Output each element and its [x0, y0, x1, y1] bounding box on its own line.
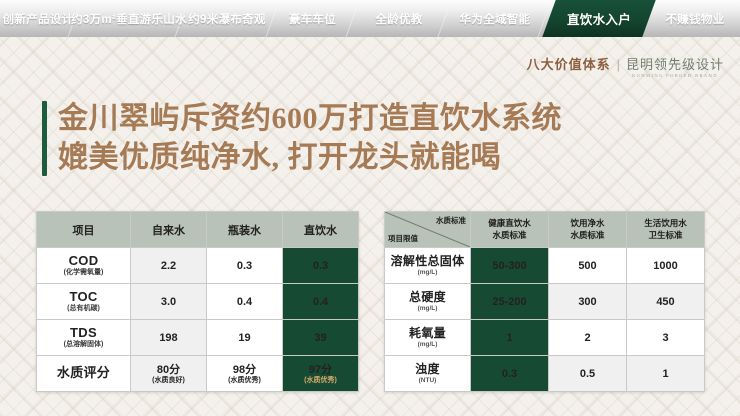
water-standards-table: 水质标准 项目限值 健康直饮水 水质标准 饮用净水 水质标准: [384, 211, 705, 392]
corner-header-bottom-left: 项目限值: [388, 233, 418, 244]
table-header-row: 项目 自来水 瓶装水 直饮水: [37, 212, 359, 248]
cell-tds-direct: 39: [283, 320, 359, 356]
column-header-healthy-direct: 健康直饮水 水质标准: [471, 212, 549, 248]
corner-header-top-right: 水质标准: [436, 215, 466, 226]
cell-oxygen-healthy: 1: [471, 320, 549, 356]
row-label-hardness: 总硬度 (mg/L): [385, 284, 471, 320]
nav-tab-waterfall[interactable]: 约9米瀑布奇观: [182, 0, 272, 37]
nav-tab-non-profit-property[interactable]: 不赚钱物业: [650, 0, 740, 37]
page-title: 金川翠屿斥资约600万打造直饮水系统 媲美优质纯净水, 打开龙头就能喝: [42, 101, 562, 176]
row-label-tds: TDS (总溶解固体): [37, 320, 131, 356]
row-label-tds-dissolved: 溶解性总固体 (mg/L): [385, 248, 471, 284]
slide-canvas: 创新产品设计 约3万m²垂直游乐山水 约9米瀑布奇观 豪车车位 全龄优教 华为全…: [0, 0, 740, 416]
nav-tab-label: 创新产品设计: [3, 11, 74, 27]
cell-toc-bottled: 0.4: [207, 284, 283, 320]
brand-divider: |: [617, 58, 620, 71]
table-row: COD (化学需氧量) 2.2 0.3 0.3: [37, 248, 359, 284]
top-navigation-bar: 创新产品设计 约3万m²垂直游乐山水 约9米瀑布奇观 豪车车位 全龄优教 华为全…: [0, 0, 740, 37]
cell-cod-tap: 2.2: [131, 248, 207, 284]
row-label-cod: COD (化学需氧量): [37, 248, 131, 284]
row-label-main: 溶解性总固体: [385, 255, 470, 269]
column-header-purified: 饮用净水 水质标准: [549, 212, 627, 248]
cell-hardness-purified: 300: [549, 284, 627, 320]
comparison-table-grid: 项目 自来水 瓶装水 直饮水 COD (化学需氧量) 2.2 0.3 0.3: [36, 211, 359, 392]
cell-score-direct: 97分 (水质优秀): [283, 356, 359, 392]
score-note: (水质优秀): [283, 377, 358, 386]
headline-line-1: 金川翠屿斥资约600万打造直饮水系统: [58, 101, 562, 138]
row-label-unit: (mg/L): [385, 305, 470, 313]
column-header-line2: 水质标准: [549, 230, 626, 241]
table-row: TDS (总溶解固体) 198 19 39: [37, 320, 359, 356]
cell-turbidity-healthy: 0.3: [471, 356, 549, 392]
table-row: 溶解性总固体 (mg/L) 50-300 500 1000: [385, 248, 705, 284]
brand-english-text: KUNMING FORGED BRAND: [632, 74, 718, 79]
row-label-oxygen: 耗氧量 (mg/L): [385, 320, 471, 356]
score-note: (水质良好): [131, 377, 206, 386]
row-label-toc: TOC (总有机碳): [37, 284, 131, 320]
nav-tab-label: 约3万m²垂直游乐山水: [71, 11, 187, 27]
cell-tds-bottled: 19: [207, 320, 283, 356]
brand-main-text: 八大价值体系: [527, 58, 611, 71]
cell-tds-tap: 198: [131, 320, 207, 356]
nav-tab-label: 直饮水入户: [567, 9, 631, 28]
row-label-unit: (NTU): [385, 377, 470, 385]
cell-tds-domestic: 1000: [627, 248, 705, 284]
nav-tab-label: 不赚钱物业: [666, 11, 725, 27]
nav-tab-direct-drinking-water[interactable]: 直饮水入户: [542, 0, 655, 37]
table-row: 总硬度 (mg/L) 25-200 300 450: [385, 284, 705, 320]
column-header-line1: 生活饮用水: [627, 218, 704, 229]
column-header-line1: 健康直饮水: [471, 218, 548, 229]
column-header-line1: 饮用净水: [549, 218, 626, 229]
brand-sub-text: 昆明领先级设计: [626, 58, 724, 71]
cell-cod-direct: 0.3: [283, 248, 359, 284]
table-row: 浊度 (NTU) 0.3 0.5 1: [385, 356, 705, 392]
headline-line-2: 媲美优质纯净水, 打开龙头就能喝: [58, 140, 562, 177]
cell-hardness-domestic: 450: [627, 284, 705, 320]
row-label-main: TDS: [37, 326, 130, 341]
standards-table-grid: 水质标准 项目限值 健康直饮水 水质标准 饮用净水 水质标准: [384, 211, 705, 392]
cell-oxygen-purified: 2: [549, 320, 627, 356]
brand-eyebrow: 八大价值体系 | 昆明领先级设计 KUNMING FORGED BRAND: [527, 58, 724, 79]
brand-sub-group: 昆明领先级设计 KUNMING FORGED BRAND: [626, 58, 724, 79]
table-row-score: 水质评分 80分 (水质良好) 98分 (水质优秀) 97分 (水质优秀): [37, 356, 359, 392]
nav-tab-label: 华为全域智能: [460, 11, 531, 27]
column-header-direct: 直饮水: [283, 212, 359, 248]
cell-tds-healthy: 50-300: [471, 248, 549, 284]
column-header-item: 项目: [37, 212, 131, 248]
score-value: 97分: [309, 364, 332, 376]
cell-score-tap: 80分 (水质良好): [131, 356, 207, 392]
corner-header-cell: 水质标准 项目限值: [385, 212, 471, 248]
row-label-main: 总硬度: [385, 291, 470, 305]
nav-tab-luxury-parking[interactable]: 豪车车位: [272, 0, 353, 37]
column-header-tap: 自来水: [131, 212, 207, 248]
cell-turbidity-purified: 0.5: [549, 356, 627, 392]
column-header-line2: 卫生标准: [627, 230, 704, 241]
row-label-note: (化学需氧量): [37, 269, 130, 277]
cell-score-bottled: 98分 (水质优秀): [207, 356, 283, 392]
score-note: (水质优秀): [207, 377, 282, 386]
cell-toc-direct: 0.4: [283, 284, 359, 320]
nav-tab-all-age-education[interactable]: 全龄优教: [353, 0, 445, 37]
nav-tab-label: 豪车车位: [289, 11, 336, 27]
row-label-unit: (mg/L): [385, 341, 470, 349]
cell-toc-tap: 3.0: [131, 284, 207, 320]
cell-tds-purified: 500: [549, 248, 627, 284]
nav-tab-label: 全龄优教: [375, 11, 422, 27]
column-header-domestic: 生活饮用水 卫生标准: [627, 212, 705, 248]
nav-tab-innovative-product-design[interactable]: 创新产品设计: [0, 0, 76, 37]
row-label-score: 水质评分: [37, 356, 131, 392]
table-row: TOC (总有机碳) 3.0 0.4 0.4: [37, 284, 359, 320]
nav-tab-vertical-landscape[interactable]: 约3万m²垂直游乐山水: [76, 0, 182, 37]
headline-lines: 金川翠屿斥资约600万打造直饮水系统 媲美优质纯净水, 打开龙头就能喝: [58, 101, 562, 176]
score-value: 80分: [157, 364, 180, 376]
nav-tab-huawei-smart[interactable]: 华为全域智能: [445, 0, 545, 37]
table-header-row: 水质标准 项目限值 健康直饮水 水质标准 饮用净水 水质标准: [385, 212, 705, 248]
table-row: 耗氧量 (mg/L) 1 2 3: [385, 320, 705, 356]
cell-turbidity-domestic: 1: [627, 356, 705, 392]
score-value: 98分: [233, 364, 256, 376]
row-label-note: (总溶解固体): [37, 341, 130, 349]
row-label-note: (总有机碳): [37, 305, 130, 313]
cell-cod-bottled: 0.3: [207, 248, 283, 284]
row-label-main: 水质评分: [37, 366, 130, 381]
cell-hardness-healthy: 25-200: [471, 284, 549, 320]
row-label-main: COD: [37, 254, 130, 269]
row-label-main: 浊度: [385, 363, 470, 377]
row-label-main: 耗氧量: [385, 327, 470, 341]
nav-tab-label: 约9米瀑布奇观: [188, 11, 266, 27]
row-label-turbidity: 浊度 (NTU): [385, 356, 471, 392]
row-label-main: TOC: [37, 290, 130, 305]
row-label-unit: (mg/L): [385, 269, 470, 277]
cell-oxygen-domestic: 3: [627, 320, 705, 356]
column-header-bottled: 瓶装水: [207, 212, 283, 248]
headline-accent-bar: [42, 101, 47, 176]
column-header-line2: 水质标准: [471, 230, 548, 241]
water-comparison-table: 项目 自来水 瓶装水 直饮水 COD (化学需氧量) 2.2 0.3 0.3: [36, 211, 359, 392]
